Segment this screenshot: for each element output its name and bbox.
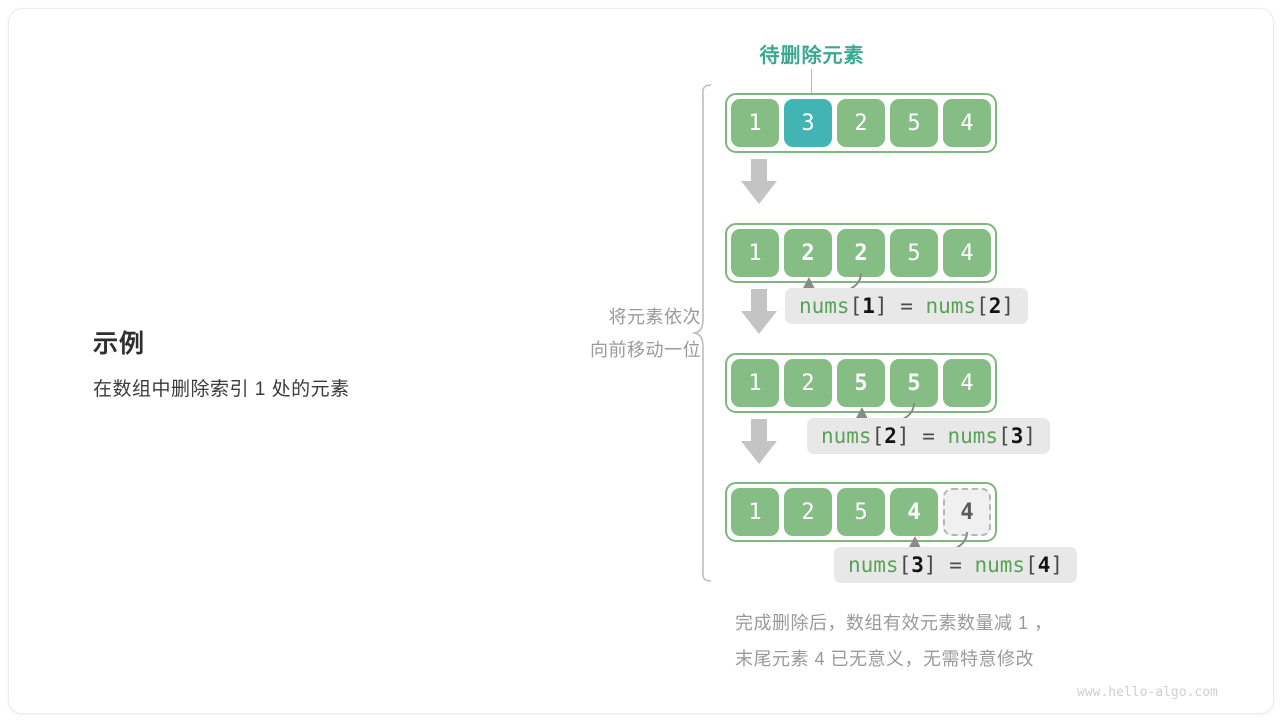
array-cell: 4 — [943, 359, 991, 407]
caption-title: 示例 — [93, 324, 493, 360]
middle-annotation: 将元素依次 向前移动一位 — [521, 301, 701, 367]
array-cell: 1 — [731, 359, 779, 407]
down-arrow-icon — [740, 289, 778, 335]
code-lhs-name: nums — [821, 424, 872, 448]
array-cell: 5 — [837, 488, 885, 536]
array-row-1: 1 3 2 5 4 — [725, 93, 997, 153]
array-cell: 4 — [943, 99, 991, 147]
code-label-row3: nums[2] = nums[3] — [807, 418, 1050, 454]
down-arrow-icon — [740, 419, 778, 465]
array-cell: 5 — [890, 229, 938, 277]
array-cell: 2 — [784, 488, 832, 536]
down-arrow-icon — [740, 159, 778, 205]
array-cell-source: 5 — [890, 359, 938, 407]
array-cell-discarded: 4 — [943, 488, 991, 536]
grouping-brace-icon — [691, 83, 715, 583]
middle-annotation-line2: 向前移动一位 — [521, 334, 701, 367]
array-cells: 1 2 5 4 4 — [731, 488, 991, 536]
array-cell: 1 — [731, 488, 779, 536]
code-label-row2: nums[1] = nums[2] — [785, 288, 1028, 324]
code-lhs-index: 2 — [884, 424, 897, 448]
array-cells: 1 3 2 5 4 — [731, 99, 991, 147]
code-operator: = — [900, 294, 913, 318]
array-cells: 1 2 2 5 4 — [731, 229, 991, 277]
diagram-card: 示例 在数组中删除索引 1 处的元素 将元素依次 向前移动一位 待删除元素 1 … — [8, 8, 1274, 714]
code-label-row4: nums[3] = nums[4] — [834, 547, 1077, 583]
diagram-stage: 示例 在数组中删除索引 1 处的元素 将元素依次 向前移动一位 待删除元素 1 … — [9, 9, 1273, 713]
bottom-annotation-line1: 完成删除后，数组有效元素数量减 1 ， — [735, 605, 1205, 641]
array-cell-highlighted: 3 — [784, 99, 832, 147]
array-cell-target: 5 — [837, 359, 885, 407]
code-lhs-name: nums — [799, 294, 850, 318]
bottom-annotation-line2: 末尾元素 4 已无意义，无需特意修改 — [735, 641, 1205, 677]
caption-subtitle: 在数组中删除索引 1 处的元素 — [93, 374, 493, 401]
array-cell: 1 — [731, 99, 779, 147]
code-operator: = — [922, 424, 935, 448]
code-lhs-name: nums — [848, 553, 899, 577]
middle-annotation-line1: 将元素依次 — [521, 301, 701, 334]
code-operator: = — [949, 553, 962, 577]
array-cell: 2 — [837, 99, 885, 147]
bottom-annotation: 完成删除后，数组有效元素数量减 1 ， 末尾元素 4 已无意义，无需特意修改 — [735, 605, 1205, 677]
delete-target-title: 待删除元素 — [737, 39, 887, 68]
code-lhs-index: 1 — [862, 294, 875, 318]
code-rhs-name: nums — [975, 553, 1026, 577]
array-cell-target: 2 — [784, 229, 832, 277]
array-cell-source: 2 — [837, 229, 885, 277]
array-frame: 1 3 2 5 4 — [725, 93, 997, 153]
code-rhs-index: 2 — [989, 294, 1002, 318]
example-caption: 示例 在数组中删除索引 1 处的元素 — [93, 324, 493, 401]
array-cell: 2 — [784, 359, 832, 407]
code-rhs-index: 4 — [1038, 553, 1051, 577]
code-lhs-index: 3 — [911, 553, 924, 577]
array-cell-target: 4 — [890, 488, 938, 536]
code-rhs-index: 3 — [1011, 424, 1024, 448]
code-rhs-name: nums — [926, 294, 977, 318]
array-cell: 4 — [943, 229, 991, 277]
watermark: www.hello-algo.com — [1077, 685, 1218, 700]
array-cell: 1 — [731, 229, 779, 277]
array-cell: 5 — [890, 99, 938, 147]
array-cells: 1 2 5 5 4 — [731, 359, 991, 407]
code-rhs-name: nums — [948, 424, 999, 448]
